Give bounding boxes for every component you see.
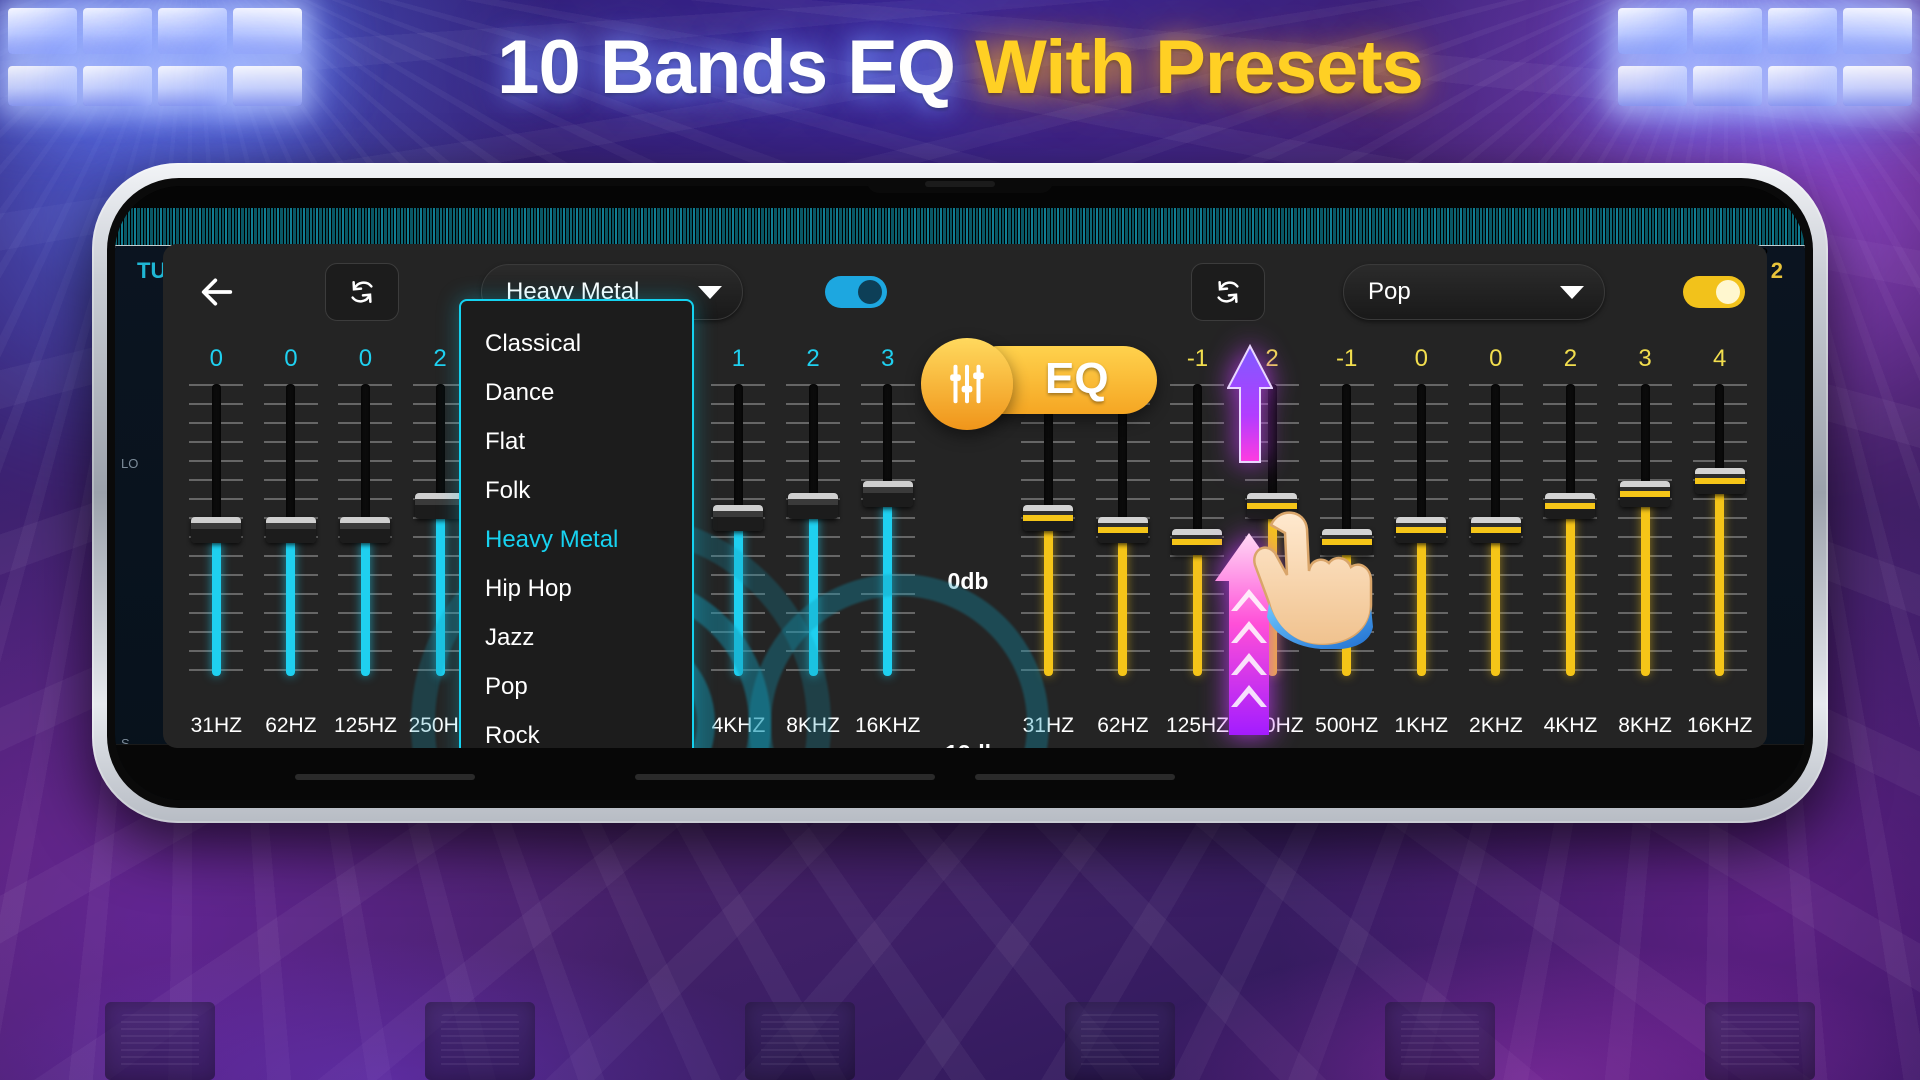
right-reset-button[interactable] (1191, 263, 1265, 321)
eq-slider-fill (436, 506, 445, 676)
eq-band-frequency: 62HZ (265, 704, 316, 748)
eq-band-value: 4 (1713, 340, 1726, 378)
bg-label-2: 2 (1771, 258, 1783, 284)
eq-slider-thumb[interactable] (1471, 517, 1521, 543)
speaker-row (0, 960, 1920, 1080)
left-toggle-knob (858, 280, 882, 304)
eq-slider-fill (361, 530, 370, 676)
eq-badge: EQ (921, 344, 1157, 416)
equalizer-panel: Heavy Metal (163, 244, 1767, 748)
eq-slider-thumb[interactable] (191, 517, 241, 543)
sliders-icon (921, 338, 1013, 430)
eq-slider-thumb[interactable] (340, 517, 390, 543)
eq-band-value: 1 (732, 340, 745, 378)
eq-band-value: 0 (210, 340, 223, 378)
chevron-down-icon (1560, 286, 1584, 299)
eq-band-value: 0 (1415, 340, 1428, 378)
banner-title-white: 10 Bands EQ (497, 25, 955, 110)
preset-dropdown-menu[interactable]: ClassicalDanceFlatFolkHeavy MetalHip Hop… (459, 299, 694, 748)
eq-band-frequency: 62HZ (1097, 704, 1148, 748)
eq-slider-thumb[interactable] (863, 481, 913, 507)
label-low: LO (121, 456, 138, 471)
eq-slider-thumb[interactable] (1545, 493, 1595, 519)
eq-band-value: 3 (1638, 340, 1651, 378)
eq-slider-fill (809, 506, 818, 676)
eq-slider-thumb[interactable] (266, 517, 316, 543)
eq-slider[interactable] (179, 378, 254, 704)
up-arrow-icon (1227, 344, 1273, 464)
eq-slider-fill (883, 494, 892, 677)
eq-band-value: 0 (284, 340, 297, 378)
eq-band[interactable]: 24KHZ (1533, 340, 1608, 748)
dropdown-item[interactable]: Pop (461, 662, 692, 711)
eq-slider[interactable] (1086, 378, 1161, 704)
eq-badge-label: EQ (1045, 354, 1109, 404)
eq-band-value: -1 (1187, 340, 1208, 378)
eq-slider[interactable] (1459, 378, 1534, 704)
banner-title-yellow: With Presets (975, 25, 1423, 110)
eq-slider-thumb[interactable] (1098, 517, 1148, 543)
dropdown-item[interactable]: Jazz (461, 613, 692, 662)
left-eq-toggle[interactable] (825, 276, 887, 308)
eq-band-value: 2 (433, 340, 446, 378)
player-bottom-bar (115, 744, 1805, 800)
banner-title: 10 Bands EQ With Presets (0, 28, 1920, 108)
eq-slider-thumb[interactable] (788, 493, 838, 519)
eq-band-frequency: 500HZ (1315, 704, 1378, 748)
phone-bezel: LO S OP TU 2 (107, 178, 1813, 808)
eq-slider-fill (734, 518, 743, 676)
eq-band-value: 0 (1489, 340, 1502, 378)
eq-slider[interactable] (1011, 378, 1086, 704)
right-eq-toggle[interactable] (1683, 276, 1745, 308)
phone-frame: LO S OP TU 2 (92, 163, 1828, 823)
eq-band-value: 0 (359, 340, 372, 378)
eq-band-frequency: 16KHZ (1687, 704, 1752, 748)
back-arrow-icon[interactable] (191, 266, 243, 318)
eq-slider-fill (286, 530, 295, 676)
eq-slider-thumb[interactable] (1023, 505, 1073, 531)
eq-band-frequency: 4KHZ (712, 704, 766, 748)
phone-earpiece (925, 181, 995, 187)
right-preset-value: Pop (1368, 278, 1411, 306)
eq-slider[interactable] (850, 378, 925, 704)
eq-slider-thumb[interactable] (1620, 481, 1670, 507)
eq-band[interactable]: 0125HZ (328, 340, 403, 748)
eq-band-frequency: 31HZ (191, 704, 242, 748)
left-reset-button[interactable] (325, 263, 399, 321)
eq-band[interactable]: 031HZ (179, 340, 254, 748)
eq-band-frequency: 4KHZ (1544, 704, 1598, 748)
eq-slider[interactable] (701, 378, 776, 704)
eq-band-frequency: 16KHZ (855, 704, 920, 748)
eq-slider-fill (1193, 542, 1202, 676)
dropdown-item[interactable]: Classical (461, 319, 692, 368)
dropdown-item[interactable]: Flat (461, 417, 692, 466)
db-scale-mid: 0db (948, 568, 989, 595)
eq-slider[interactable] (1682, 378, 1757, 704)
eq-slider-thumb[interactable] (415, 493, 465, 519)
eq-slider[interactable] (1608, 378, 1683, 704)
dropdown-item[interactable]: Dance (461, 368, 692, 417)
eq-slider-fill (1566, 506, 1575, 676)
eq-slider-fill (1715, 481, 1724, 676)
eq-slider-fill (1491, 530, 1500, 676)
eq-band[interactable]: 316KHZ (850, 340, 925, 748)
dropdown-item[interactable]: Heavy Metal (461, 515, 692, 564)
eq-band-value: 2 (1564, 340, 1577, 378)
eq-slider-fill (1641, 494, 1650, 677)
chevron-down-icon (698, 286, 722, 299)
eq-slider-thumb[interactable] (1695, 468, 1745, 494)
eq-band-value: 2 (806, 340, 819, 378)
equalizer-toolbar: Heavy Metal (163, 244, 1767, 340)
eq-band-frequency: 8KHZ (786, 704, 840, 748)
eq-band-frequency: 2KHZ (1469, 704, 1523, 748)
eq-band[interactable]: 02KHZ (1459, 340, 1534, 748)
eq-band[interactable]: 28KHZ (776, 340, 851, 748)
audio-waveform (115, 208, 1805, 248)
dropdown-item[interactable]: Hip Hop (461, 564, 692, 613)
eq-band-value: -1 (1336, 340, 1357, 378)
eq-slider-fill (1044, 518, 1053, 676)
db-scale-bottom: -12db (937, 740, 998, 748)
eq-slider[interactable] (254, 378, 329, 704)
eq-band-frequency: 31HZ (1023, 704, 1074, 748)
bg-label-tu: TU (137, 258, 166, 284)
eq-band[interactable]: 416KHZ (1682, 340, 1757, 748)
eq-slider[interactable] (328, 378, 403, 704)
right-preset-dropdown[interactable]: Pop (1343, 264, 1605, 320)
eq-slider[interactable] (1533, 378, 1608, 704)
dropdown-item[interactable]: Folk (461, 466, 692, 515)
eq-slider-thumb[interactable] (713, 505, 763, 531)
eq-band-frequency: 8KHZ (1618, 704, 1672, 748)
eq-slider-fill (212, 530, 221, 676)
eq-band-frequency: 1KHZ (1394, 704, 1448, 748)
eq-band-value: 3 (881, 340, 894, 378)
eq-slider[interactable] (776, 378, 851, 704)
eq-band[interactable]: 38KHZ (1608, 340, 1683, 748)
eq-band[interactable]: 062HZ (254, 340, 329, 748)
eq-band-frequency: 125HZ (334, 704, 397, 748)
dropdown-item[interactable]: Rock (461, 711, 692, 748)
right-toggle-knob (1716, 280, 1740, 304)
hand-cursor-icon (1249, 499, 1429, 649)
eq-slider-fill (1118, 530, 1127, 676)
phone-screen: LO S OP TU 2 (115, 186, 1805, 800)
eq-band[interactable]: 14KHZ (701, 340, 776, 748)
